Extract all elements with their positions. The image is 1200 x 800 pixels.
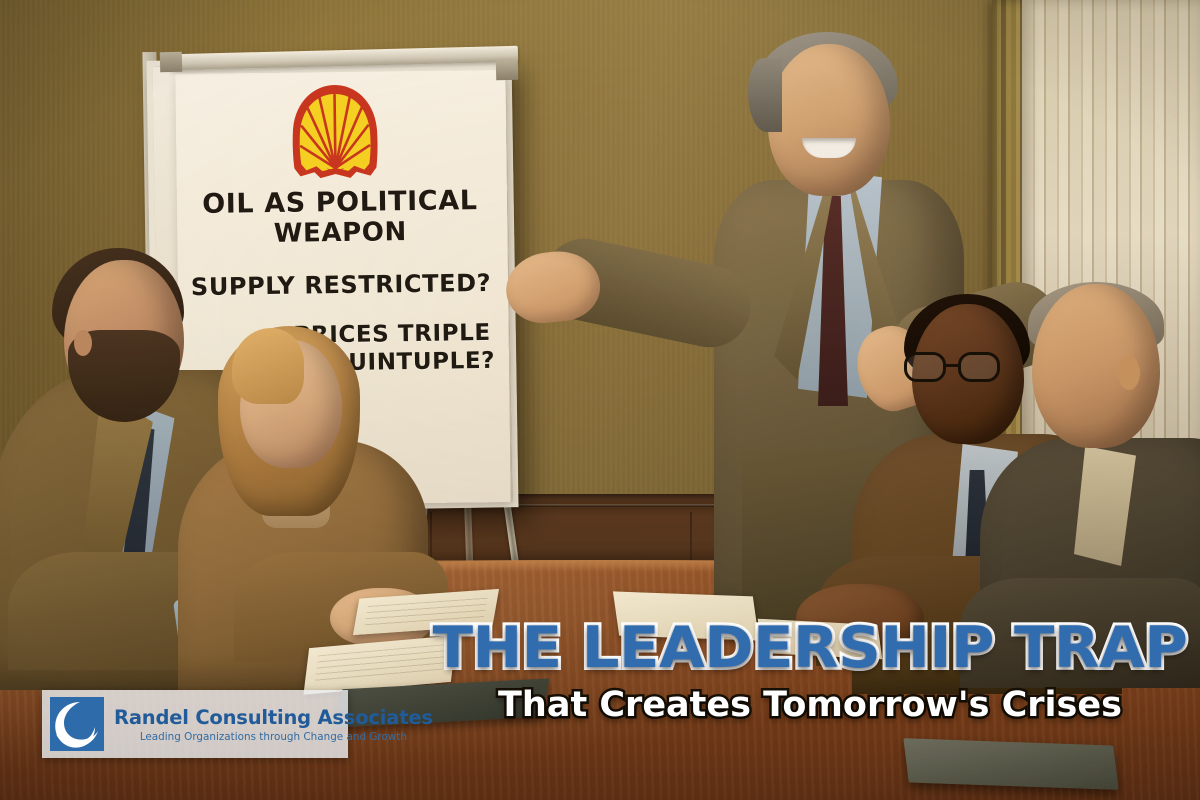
shell-pecten-logo <box>281 81 388 184</box>
presenter-head <box>768 44 890 196</box>
crescent-swoosh-icon <box>50 697 104 751</box>
eyeglass-lens-left <box>904 352 946 382</box>
older-man-ear <box>1118 356 1140 390</box>
title-lockup: THE LEADERSHIP TRAP That Creates Tomorro… <box>440 618 1180 726</box>
boardroom-scene-image: OIL AS POLITICAL WEAPON SUPPLY RESTRICTE… <box>0 0 1200 800</box>
woman-hair-front <box>232 328 304 404</box>
eyeglass-lens-right <box>958 352 1000 382</box>
grey-notebook <box>903 738 1118 790</box>
clamp-end-cap <box>160 52 182 73</box>
presenter-sideburn <box>748 58 782 132</box>
brand-tagline: Leading Organizations through Change and… <box>140 731 407 743</box>
flipchart-line-2: WEAPON <box>185 216 495 250</box>
clamp-end-cap <box>496 60 518 81</box>
bearded-man-ear <box>74 330 92 356</box>
flipchart-line-1: OIL AS POLITICAL <box>185 186 495 219</box>
older-man-head <box>1032 284 1160 448</box>
brand-logo-panel[interactable]: Randel Consulting Associates Leading Org… <box>42 690 348 758</box>
brand-text: Randel Consulting Associates Leading Org… <box>114 706 433 743</box>
brand-name: Randel Consulting Associates <box>114 706 433 729</box>
headline-title: THE LEADERSHIP TRAP <box>425 618 1195 678</box>
headline-subtitle: That Creates Tomorrow's Crises <box>440 684 1180 726</box>
